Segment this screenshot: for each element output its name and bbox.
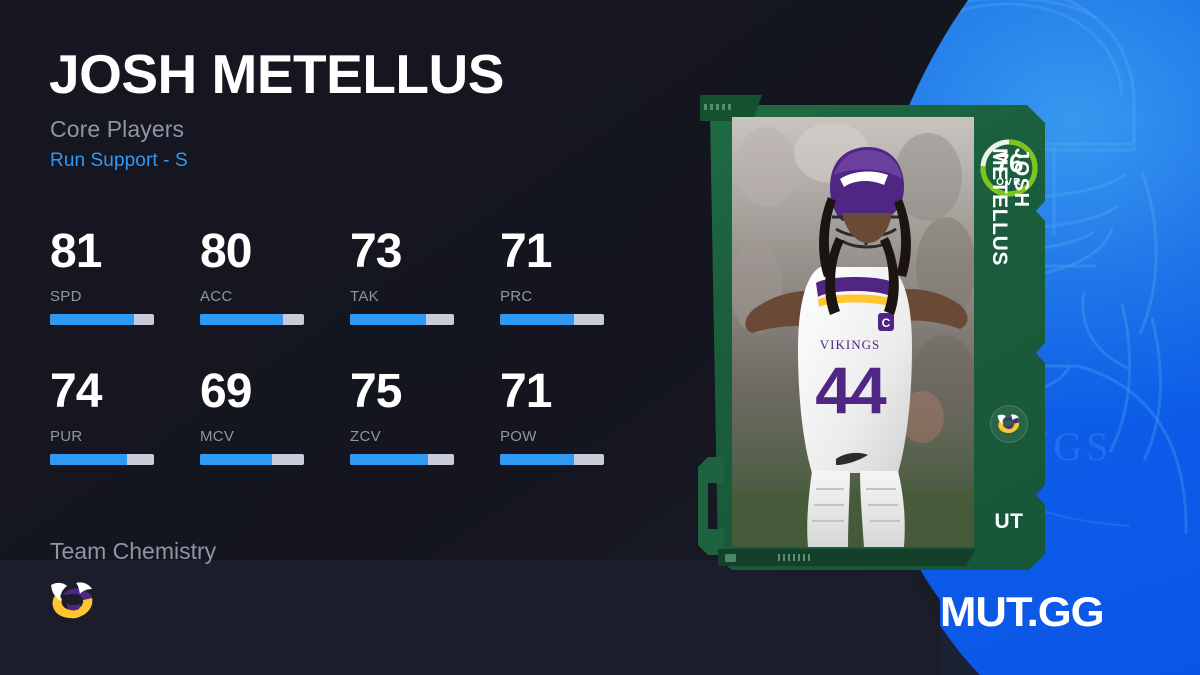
stat-value: 71 [500, 228, 650, 276]
stat-label: POW [500, 428, 650, 445]
card-footer-strip [718, 549, 976, 566]
svg-text:VIKINGS: VIKINGS [820, 337, 880, 352]
card-player-name: JOSH METELLUS [904, 223, 1114, 283]
card-chip-icon [725, 554, 736, 562]
stat-value: 73 [350, 228, 500, 276]
svg-text:44: 44 [815, 353, 887, 427]
stat-label: ZCV [350, 428, 500, 445]
stat-label: TAK [350, 288, 500, 305]
page-title: JOSH METELLUS [49, 47, 504, 102]
stat-cell-spd: 81SPD [50, 228, 200, 368]
stat-progress-fill [350, 314, 426, 325]
stat-progress-fill [350, 454, 428, 465]
card-first-name: JOSH [1010, 148, 1031, 208]
stat-cell-prc: 71PRC [500, 228, 650, 368]
card-position-label: UT [973, 510, 1045, 534]
stat-label: ACC [200, 288, 350, 305]
stat-progress-bar [500, 454, 604, 465]
stat-value: 74 [50, 368, 200, 416]
stat-progress-bar [200, 454, 304, 465]
stat-progress-bar [200, 314, 304, 325]
vikings-logo-icon [996, 413, 1022, 435]
card-last-name: METELLUS [987, 148, 1009, 266]
player-card[interactable]: C VIKINGS 44 [710, 105, 1045, 570]
stat-progress-bar [500, 314, 604, 325]
screenshot-stage: VIKINGS JOSH METELLUS Co [0, 0, 1200, 675]
stat-progress-bar [50, 314, 154, 325]
player-photo: C VIKINGS 44 [732, 117, 974, 547]
stat-value: 80 [200, 228, 350, 276]
card-tab-dots-icon [704, 104, 731, 110]
card-team-logo [990, 405, 1028, 443]
stat-cell-zcv: 75ZCV [350, 368, 500, 508]
stat-progress-fill [200, 314, 283, 325]
stat-progress-bar [50, 454, 154, 465]
stat-value: 81 [50, 228, 200, 276]
program-label: Core Players [50, 116, 184, 143]
stat-value: 69 [200, 368, 350, 416]
stat-label: PRC [500, 288, 650, 305]
stat-cell-mcv: 69MCV [200, 368, 350, 508]
stat-progress-fill [50, 454, 127, 465]
card-tick-marks-icon [778, 554, 810, 561]
archetype-label: Run Support - S [50, 150, 188, 172]
stat-progress-bar [350, 454, 454, 465]
stat-cell-pow: 71POW [500, 368, 650, 508]
stat-cell-pur: 74PUR [50, 368, 200, 508]
stat-progress-fill [50, 314, 134, 325]
svg-text:C: C [882, 316, 891, 330]
stat-progress-fill [500, 454, 574, 465]
stat-cell-tak: 73TAK [350, 228, 500, 368]
card-right-rail: 76 OVR JOSH METELLUS UT [973, 105, 1045, 570]
stat-label: MCV [200, 428, 350, 445]
stat-cell-acc: 80ACC [200, 228, 350, 368]
stat-value: 75 [350, 368, 500, 416]
stat-progress-fill [500, 314, 574, 325]
player-stats-grid: 81SPD80ACC73TAK71PRC74PUR69MCV75ZCV71POW [50, 228, 670, 508]
mutgg-watermark: MUT.GG [940, 588, 1104, 636]
stat-progress-bar [350, 314, 454, 325]
stat-progress-fill [200, 454, 272, 465]
vikings-logo-icon [48, 580, 98, 622]
stat-label: SPD [50, 288, 200, 305]
stat-label: PUR [50, 428, 200, 445]
team-chemistry-title: Team Chemistry [50, 538, 216, 565]
stat-value: 71 [500, 368, 650, 416]
